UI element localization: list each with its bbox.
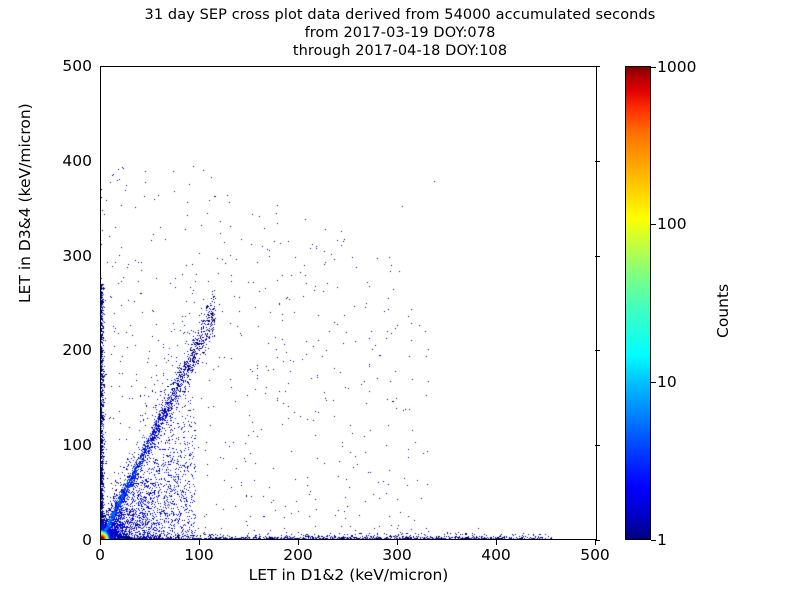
- x-axis-tick-400: [496, 540, 497, 545]
- x-axis-ticklabel-500: 500: [580, 546, 610, 564]
- x-axis-ticklabel-300: 300: [382, 546, 412, 564]
- colorbar-tick-1000: [651, 67, 656, 68]
- y-axis-ticklabel-100: 100: [62, 436, 92, 454]
- x-axis-label: LET in D1&2 (keV/micron): [100, 566, 597, 584]
- y-axis-ticklabel-0: 0: [82, 531, 92, 549]
- y-axis-tick-100: [595, 445, 600, 446]
- y-axis-tick-200: [595, 350, 600, 351]
- x-axis-ticklabel-100: 100: [184, 546, 214, 564]
- y-axis-label: LET in D3&4 (keV/micron): [16, 103, 34, 303]
- y-axis-tick-400: [595, 161, 600, 162]
- colorbar-tick-1: [651, 540, 656, 541]
- scatter-plot-canvas: [101, 67, 597, 540]
- chart-title-line-2: from 2017-03-19 DOY:078: [0, 24, 800, 42]
- y-axis-ticklabel-500: 500: [62, 57, 92, 75]
- y-axis-tick-0: [595, 540, 600, 541]
- x-axis-tick-200: [298, 540, 299, 545]
- x-axis-ticklabel-400: 400: [481, 546, 511, 564]
- y-axis-tick-300: [595, 256, 600, 257]
- colorbar-ticklabel-100: 100: [657, 215, 687, 233]
- x-axis-ticklabel-200: 200: [283, 546, 313, 564]
- chart-title-line-1: 31 day SEP cross plot data derived from …: [0, 6, 800, 24]
- colorbar-ticklabel-1: 1: [657, 531, 667, 549]
- x-axis-tick-0: [100, 540, 101, 545]
- colorbar-label: Counts: [714, 284, 732, 338]
- figure-canvas: 31 day SEP cross plot data derived from …: [0, 0, 800, 600]
- y-axis-ticklabel-300: 300: [62, 247, 92, 265]
- colorbar-tick-10: [651, 382, 656, 383]
- colorbar: [625, 66, 651, 540]
- y-axis-ticklabel-400: 400: [62, 152, 92, 170]
- colorbar-ticklabel-1000: 1000: [657, 58, 696, 76]
- x-axis-ticklabel-0: 0: [95, 546, 105, 564]
- colorbar-gradient: [625, 66, 651, 540]
- plot-area: [100, 66, 597, 540]
- y-axis-ticklabel-200: 200: [62, 341, 92, 359]
- x-axis-tick-300: [397, 540, 398, 545]
- chart-title: 31 day SEP cross plot data derived from …: [0, 6, 800, 60]
- colorbar-ticklabel-10: 10: [657, 373, 677, 391]
- colorbar-tick-100: [651, 224, 656, 225]
- y-axis-tick-500: [595, 66, 600, 67]
- x-axis-tick-100: [199, 540, 200, 545]
